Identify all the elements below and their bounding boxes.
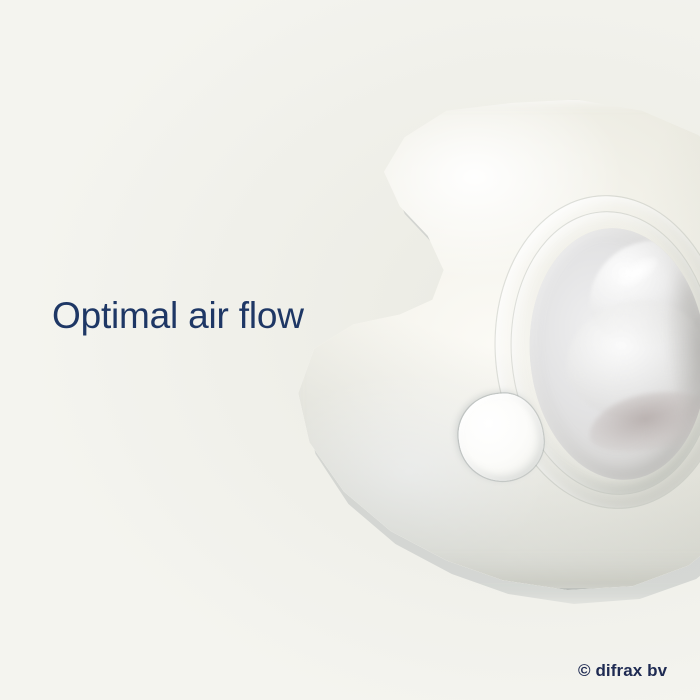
copyright-notice: © difrax bv <box>578 661 667 681</box>
screenshot-canvas: Optimal air flow © difrax bv <box>0 0 700 700</box>
product-photo <box>0 0 700 700</box>
headline-text: Optimal air flow <box>52 296 304 335</box>
